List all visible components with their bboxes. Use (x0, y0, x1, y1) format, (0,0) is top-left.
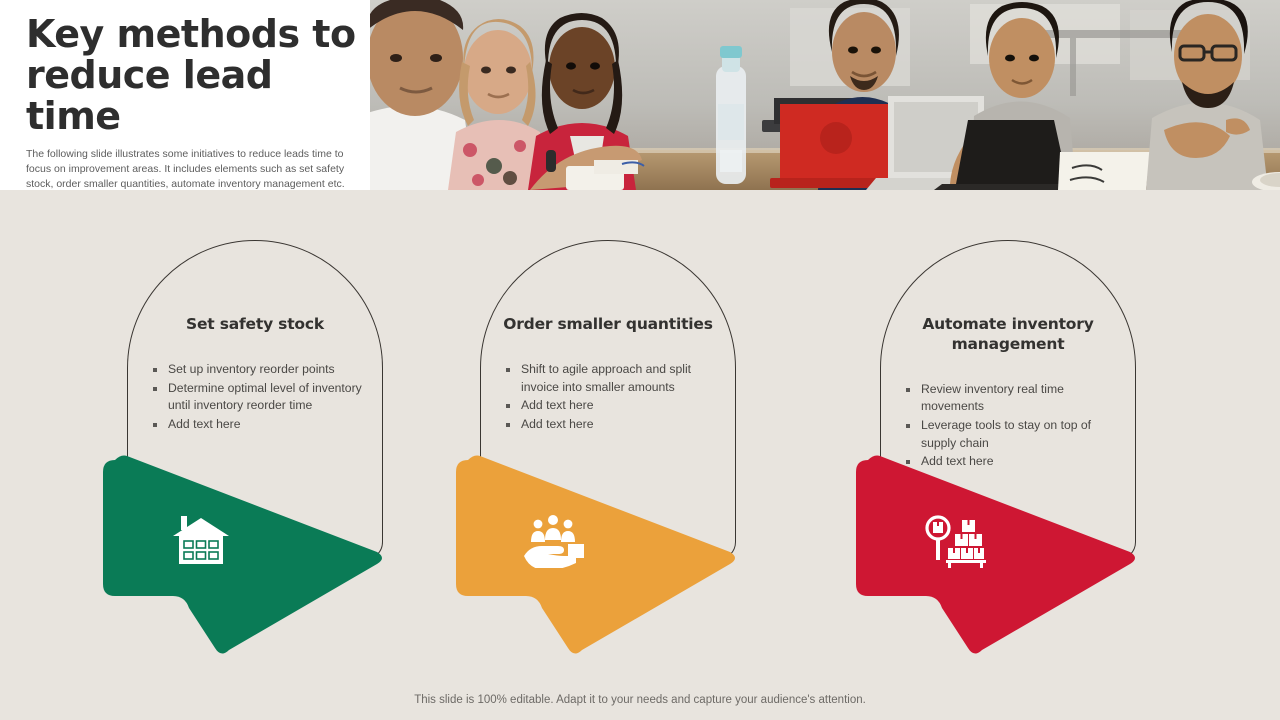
card-title-2: Order smaller quantities (496, 315, 720, 335)
magnifier-boxes-icon (922, 512, 986, 568)
list-item: Shift to agile approach and split invoic… (504, 361, 720, 396)
slide: Key methods to reduce lead time The foll… (0, 0, 1280, 720)
page-title: Key methods to reduce lead time (26, 14, 358, 137)
arrow-shape-1[interactable] (97, 452, 385, 660)
hand-holding-people-icon (522, 512, 586, 568)
slide-header: Key methods to reduce lead time The foll… (0, 0, 1280, 190)
list-item: Determine optimal level of inventory unt… (151, 380, 367, 415)
page-title-line-2: reduce lead time (26, 55, 358, 137)
list-item: Set up inventory reorder points (151, 361, 367, 379)
card-bullets-2: Shift to agile approach and split invoic… (496, 361, 720, 434)
card-title-1: Set safety stock (143, 315, 367, 335)
arrow-shape-3[interactable] (850, 452, 1138, 660)
list-item: Add text here (504, 416, 720, 434)
card-automate-inventory-management[interactable]: Automate inventory management Review inv… (800, 190, 1200, 670)
footer-note: This slide is 100% editable. Adapt it to… (0, 694, 1280, 706)
title-panel: Key methods to reduce lead time The foll… (0, 0, 370, 190)
card-title-3: Automate inventory management (896, 315, 1120, 355)
card-set-safety-stock[interactable]: Set safety stock Set up inventory reorde… (47, 190, 447, 670)
list-item: Add text here (151, 416, 367, 434)
card-order-smaller-quantities[interactable]: Order smaller quantities Shift to agile … (400, 190, 800, 670)
cards-row: Set safety stock Set up inventory reorde… (0, 190, 1280, 670)
arrow-shape-2[interactable] (450, 452, 738, 660)
card-bullets-1: Set up inventory reorder points Determin… (143, 361, 367, 434)
list-item: Add text here (504, 397, 720, 415)
page-title-line-1: Key methods to (26, 14, 358, 55)
page-subtitle: The following slide illustrates some ini… (26, 147, 358, 192)
list-item: Leverage tools to stay on top of supply … (904, 417, 1120, 452)
warehouse-house-icon (169, 512, 233, 568)
team-meeting-photo (370, 0, 1280, 190)
list-item: Review inventory real time movements (904, 381, 1120, 416)
